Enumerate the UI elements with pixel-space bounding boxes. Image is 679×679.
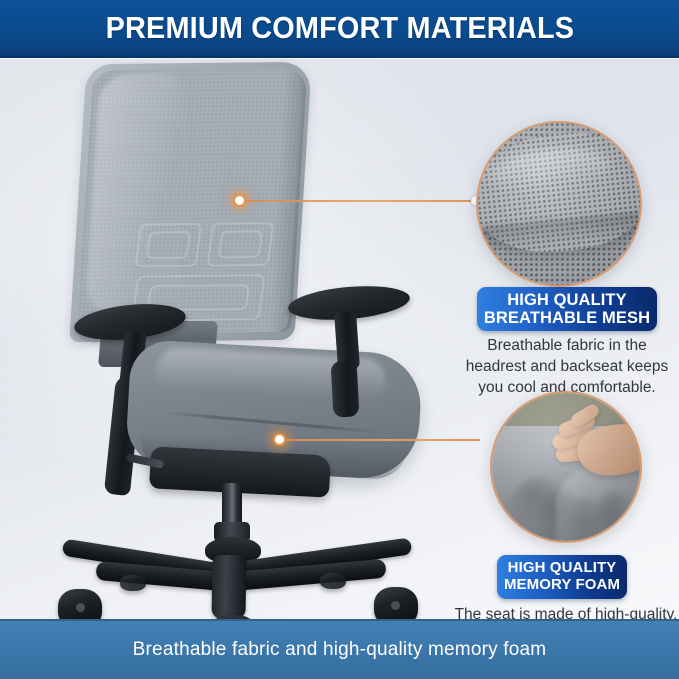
description-mesh: Breathable fabric in the headrest and ba… — [456, 336, 678, 398]
chair-backrest — [69, 62, 312, 342]
description-foam: The seat is made of high-quality, durabl… — [452, 605, 679, 619]
footer-bar: Breathable fabric and high-quality memor… — [0, 619, 679, 679]
infographic-root: PREMIUM COMFORT MATERIALS — [0, 0, 679, 679]
callout-line-foam — [280, 439, 480, 441]
armrest-stem-right — [331, 360, 360, 417]
header-bar: PREMIUM COMFORT MATERIALS — [0, 0, 679, 58]
page-title: PREMIUM COMFORT MATERIALS — [105, 10, 574, 46]
badge-breathable-mesh: HIGH QUALITY BREATHABLE MESH — [477, 287, 657, 331]
callout-line-mesh — [240, 200, 478, 202]
mesh-circle-vignette — [478, 123, 640, 285]
detail-circle-foam — [490, 391, 642, 543]
footer-caption: Breathable fabric and high-quality memor… — [133, 639, 547, 661]
hotspot-marker-backrest — [233, 194, 246, 207]
foam-circle-vignette — [492, 393, 640, 541]
armrest-right — [288, 287, 424, 439]
main-panel: HIGH QUALITY BREATHABLE MESH Breathable … — [0, 58, 679, 619]
caster-wheel — [58, 589, 102, 619]
badge-mesh-line1: HIGH QUALITY — [507, 291, 626, 309]
detail-circle-mesh — [476, 121, 642, 287]
base-leg — [211, 555, 246, 619]
badge-memory-foam: HIGH QUALITY MEMORY FOAM — [497, 555, 627, 599]
caster-wheel — [320, 573, 346, 589]
product-chair-image — [0, 59, 460, 619]
caster-wheel — [374, 587, 418, 619]
badge-foam-line1: HIGH QUALITY — [508, 560, 617, 577]
badge-foam-line2: MEMORY FOAM — [504, 577, 620, 594]
badge-mesh-line2: BREATHABLE MESH — [484, 309, 650, 327]
hotspot-marker-seat — [273, 433, 286, 446]
caster-wheel — [120, 575, 146, 591]
